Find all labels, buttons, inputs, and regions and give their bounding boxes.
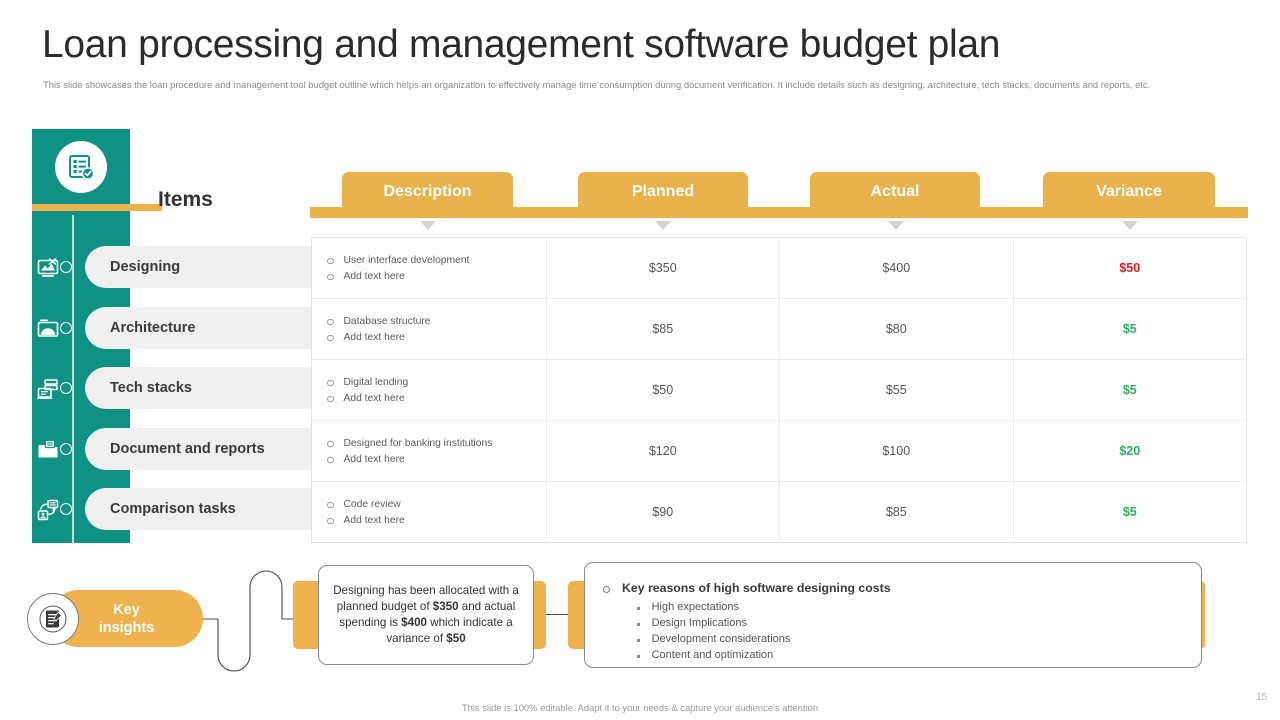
page-subtitle: This slide showcases the loan procedure … [43, 78, 1238, 91]
checklist-check-icon [66, 152, 96, 182]
cell-variance: $5 [1014, 360, 1247, 420]
cell-variance: $50 [1014, 238, 1247, 298]
list-item-label: Development considerations [652, 633, 791, 645]
design-board-icon [34, 254, 62, 282]
description-line: Database structure [344, 315, 431, 328]
description-line: Digital lending [344, 376, 409, 389]
key-insights-icon-circle [27, 593, 79, 645]
sidebar-item-label: Document and reports [85, 441, 265, 457]
architecture-chart-icon [34, 315, 62, 343]
sidebar-item-label: Designing [85, 259, 180, 275]
insight-note-box: Designing has been allocated with a plan… [318, 565, 534, 665]
cell-description: Code review Add text here [312, 482, 547, 542]
column-header-planned[interactable]: Planned [578, 172, 748, 212]
list-item: Content and optimization [637, 649, 1201, 661]
slide-root: Loan processing and management software … [0, 0, 1280, 720]
sidebar-item-pill[interactable]: Comparison tasks [85, 488, 311, 530]
report-document-icon [38, 604, 68, 634]
bullet-dot [327, 274, 334, 281]
cell-actual: $100 [780, 421, 1014, 481]
cell-description: Designed for banking institutions Add te… [312, 421, 547, 481]
column-header-label: Actual [871, 183, 920, 201]
chevron-down-icon [888, 221, 904, 230]
cell-variance: $5 [1014, 299, 1247, 359]
description-line: Designed for banking institutions [344, 437, 493, 450]
insight-note-text: Designing has been allocated with a plan… [319, 583, 533, 647]
table-row: User interface development Add text here… [312, 238, 1246, 299]
bullet-dot [327, 258, 334, 265]
document-folder-icon [34, 436, 62, 464]
description-line: Add text here [344, 331, 405, 344]
cell-description: Database structure Add text here [312, 299, 547, 359]
chevron-down-icon [1122, 221, 1138, 230]
bullet-dot [327, 335, 334, 342]
table-row: Digital lending Add text here $50 $55 $5 [312, 360, 1246, 421]
sidebar-item-pill[interactable]: Designing [85, 246, 311, 288]
sidebar-item-label: Architecture [85, 320, 195, 336]
bullet-square [637, 623, 640, 626]
description-line: Add text here [344, 453, 405, 466]
list-item-label: Design Implications [652, 617, 747, 629]
list-item: Design Implications [637, 617, 1201, 629]
sidebar-item-label: Tech stacks [85, 380, 192, 396]
description-line: Code review [344, 498, 401, 511]
list-item-label: High expectations [652, 601, 739, 613]
bullet-dot [327, 319, 334, 326]
list-item: Development considerations [637, 633, 1201, 645]
items-heading: Items [158, 188, 213, 212]
chevron-down-icon [420, 221, 436, 230]
description-line: Add text here [344, 270, 405, 283]
table-row: Designed for banking institutions Add te… [312, 421, 1246, 482]
sidebar-item-pill[interactable]: Tech stacks [85, 367, 311, 409]
bullet-square [637, 655, 640, 658]
sidebar-node-dot [60, 382, 72, 394]
bullet-dot [327, 380, 334, 387]
cell-variance: $5 [1014, 482, 1247, 542]
cell-planned: $85 [547, 299, 781, 359]
cell-actual: $85 [780, 482, 1014, 542]
cell-planned: $350 [547, 238, 781, 298]
bullet-dot [327, 396, 334, 403]
bullet-dot [327, 518, 334, 525]
cell-description: User interface development Add text here [312, 238, 547, 298]
page-title: Loan processing and management software … [42, 22, 1242, 68]
key-reasons-list: High expectations Design Implications De… [637, 601, 1201, 661]
server-stack-icon [34, 375, 62, 403]
bullet-square [637, 639, 640, 642]
chevron-down-icon [655, 221, 671, 230]
bullet-dot [327, 502, 334, 509]
key-reasons-heading-text: Key reasons of high software designing c… [622, 581, 891, 595]
column-header-description[interactable]: Description [342, 172, 513, 212]
bullet-dot [327, 441, 334, 448]
description-line: User interface development [344, 254, 470, 267]
cell-actual: $400 [780, 238, 1014, 298]
cell-actual: $80 [780, 299, 1014, 359]
bullet-square [637, 607, 640, 610]
cell-actual: $55 [780, 360, 1014, 420]
sidebar-top-badge [55, 141, 107, 193]
column-header-label: Description [383, 183, 471, 201]
description-line: Add text here [344, 392, 405, 405]
key-insights-line2: insights [99, 619, 155, 637]
key-reasons-heading: Key reasons of high software designing c… [603, 581, 1201, 595]
column-header-label: Planned [632, 183, 694, 201]
list-item: High expectations [637, 601, 1201, 613]
cell-description: Digital lending Add text here [312, 360, 547, 420]
description-line: Add text here [344, 514, 405, 527]
budget-table: User interface development Add text here… [311, 237, 1247, 543]
cell-planned: $120 [547, 421, 781, 481]
key-reasons-box: Key reasons of high software designing c… [584, 562, 1202, 668]
bullet-dot [327, 457, 334, 464]
column-header-variance[interactable]: Variance [1043, 172, 1215, 212]
key-insights-line1: Key [113, 601, 140, 619]
sidebar-item-label: Comparison tasks [85, 501, 236, 517]
cell-planned: $90 [547, 482, 781, 542]
sidebar-node-dot [60, 503, 72, 515]
table-row: Database structure Add text here $85 $80… [312, 299, 1246, 360]
sidebar-node-dot [60, 261, 72, 273]
sidebar-item-pill[interactable]: Architecture [85, 307, 311, 349]
sidebar-timeline-line [72, 215, 74, 543]
cell-variance: $20 [1014, 421, 1247, 481]
column-header-label: Variance [1096, 183, 1162, 201]
sidebar-item-pill[interactable]: Document and reports [85, 428, 311, 470]
items-underline [32, 204, 162, 211]
list-item-label: Content and optimization [652, 649, 774, 661]
footer-note: This slide is 100% editable. Adapt it to… [0, 702, 1280, 713]
table-row: Code review Add text here $90 $85 $5 [312, 482, 1246, 542]
sidebar-node-dot [60, 322, 72, 334]
sidebar-node-dot [60, 443, 72, 455]
comparison-exchange-icon [34, 496, 62, 524]
cell-planned: $50 [547, 360, 781, 420]
column-header-actual[interactable]: Actual [810, 172, 980, 212]
bullet-dot [603, 586, 610, 593]
page-number: 15 [1256, 692, 1267, 703]
